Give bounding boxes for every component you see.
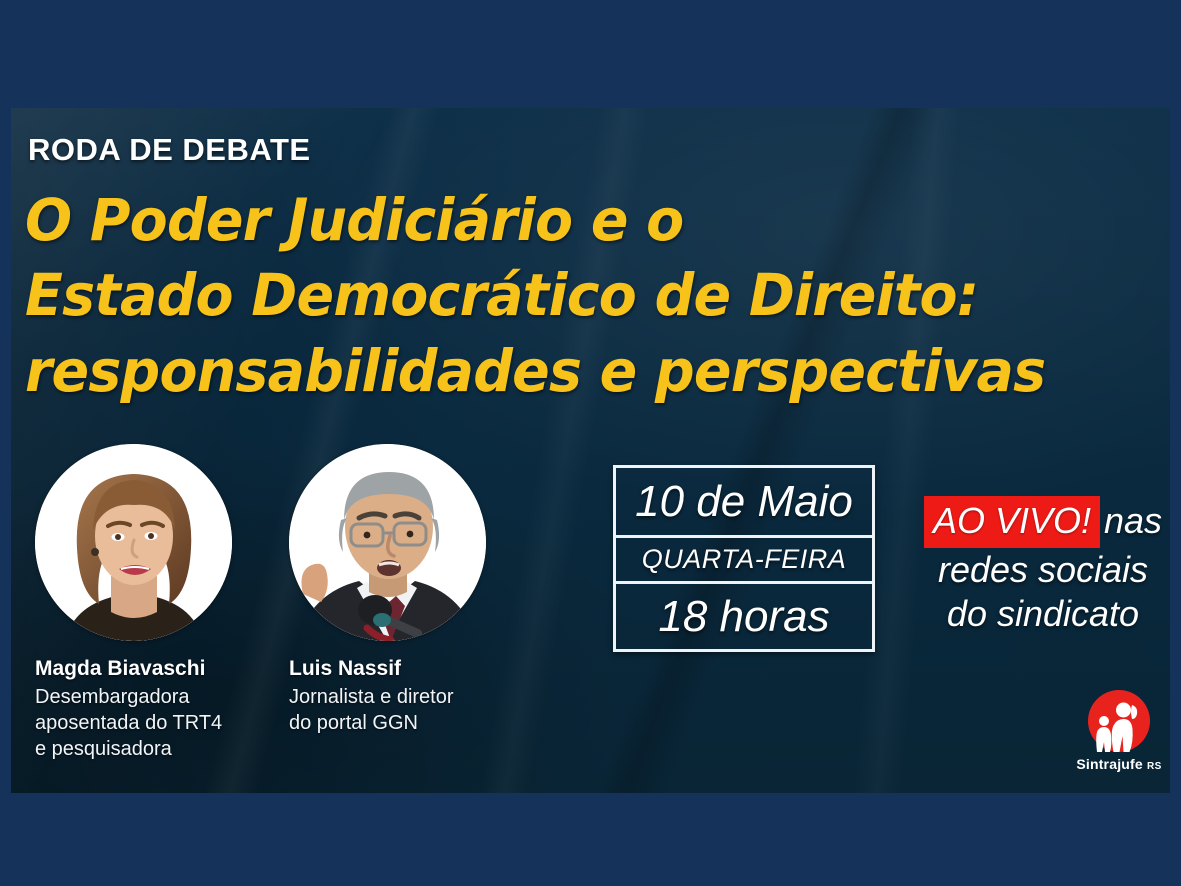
live-line-1: AO VIVO!nas	[914, 496, 1170, 548]
event-datetime-box: 10 de Maio QUARTA-FEIRA 18 horas	[613, 465, 875, 652]
speaker-card-magda-biavaschi: Magda Biavaschi Desembargadora aposentad…	[35, 444, 275, 762]
wordmark-text: Sintrajufe	[1076, 756, 1143, 772]
avatar-luis-nassif	[289, 444, 486, 641]
event-date: 10 de Maio	[616, 468, 872, 538]
live-line-3: do sindicato	[914, 592, 1170, 636]
speaker-name: Magda Biavaschi	[35, 657, 275, 681]
speaker-role-line: e pesquisadora	[35, 736, 275, 762]
live-line-2: redes sociais	[914, 548, 1170, 592]
speaker-card-luis-nassif: Luis Nassif Jornalista e diretor do port…	[289, 444, 519, 736]
speaker-role-line: Desembargadora	[35, 684, 275, 710]
poster-kicker: RODA DE DEBATE	[28, 132, 311, 168]
headline-line-3: responsabilidades e perspectivas	[25, 334, 1114, 409]
poster-inner-panel: RODA DE DEBATE O Poder Judiciário e o Es…	[11, 108, 1170, 793]
avatar-magda-biavaschi	[35, 444, 232, 641]
speaker-role-line: Jornalista e diretor	[289, 684, 519, 710]
event-weekday: QUARTA-FEIRA	[616, 538, 872, 584]
speaker-role: Jornalista e diretor do portal GGN	[289, 684, 519, 736]
poster: RODA DE DEBATE O Poder Judiciário e o Es…	[0, 0, 1181, 886]
wordmark-state: RS	[1147, 761, 1162, 772]
sintrajufe-people-circle-icon	[1088, 690, 1150, 752]
poster-headline: O Poder Judiciário e o Estado Democrátic…	[25, 183, 1114, 409]
live-badge: AO VIVO!	[924, 496, 1100, 548]
live-broadcast-note: AO VIVO!nas redes sociais do sindicato	[914, 496, 1170, 636]
speaker-role: Desembargadora aposentada do TRT4 e pesq…	[35, 684, 275, 762]
speaker-role-line: aposentada do TRT4	[35, 710, 275, 736]
sintrajufe-logo: Sintrajufe RS	[1074, 690, 1164, 772]
headline-line-1: O Poder Judiciário e o	[25, 183, 1114, 258]
live-line-1-rest: nas	[1104, 500, 1162, 541]
sintrajufe-wordmark: Sintrajufe RS	[1074, 756, 1164, 772]
speaker-role-line: do portal GGN	[289, 710, 519, 736]
speaker-name: Luis Nassif	[289, 657, 519, 681]
headline-line-2: Estado Democrático de Direito:	[25, 258, 1114, 333]
event-time: 18 horas	[616, 584, 872, 649]
